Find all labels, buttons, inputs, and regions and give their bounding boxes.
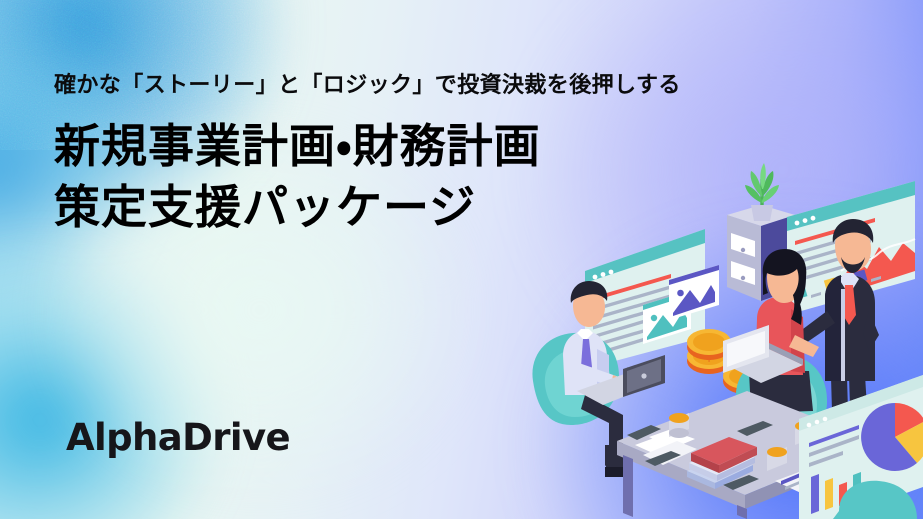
hero-copy: 確かな「ストーリー」と「ロジック」で投資決裁を後押しする 新規事業計画・財務計画… bbox=[54, 72, 681, 238]
hero-banner: 確かな「ストーリー」と「ロジック」で投資決裁を後押しする 新規事業計画・財務計画… bbox=[0, 0, 923, 519]
alphadrive-logo: AlphaDrive bbox=[66, 416, 290, 459]
hero-headline: 新規事業計画・財務計画 策定支援パッケージ bbox=[54, 116, 681, 237]
hero-headline-line-1: 新規事業計画・財務計画 bbox=[54, 116, 681, 177]
hero-headline-line-2: 策定支援パッケージ bbox=[54, 177, 681, 238]
hero-subtitle: 確かな「ストーリー」と「ロジック」で投資決裁を後押しする bbox=[54, 72, 681, 98]
